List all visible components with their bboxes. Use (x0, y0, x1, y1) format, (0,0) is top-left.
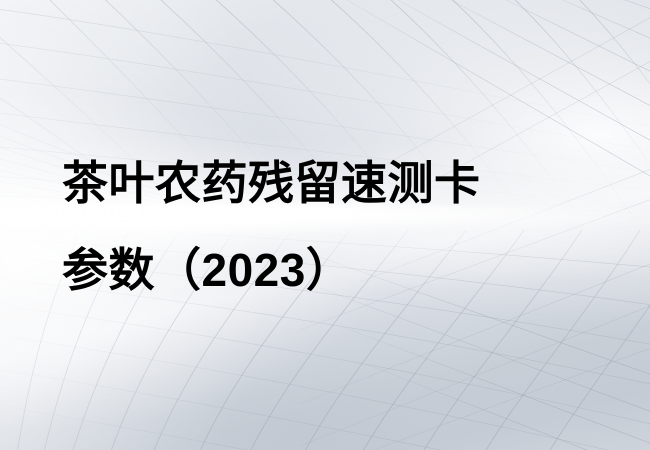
title-banner: 茶叶农药残留速测卡 参数（2023） (0, 0, 650, 450)
page-title: 茶叶农药残留速测卡 参数（2023） (62, 140, 481, 314)
title-line-2: 参数（2023） (62, 227, 481, 314)
title-line-1: 茶叶农药残留速测卡 (62, 140, 481, 227)
